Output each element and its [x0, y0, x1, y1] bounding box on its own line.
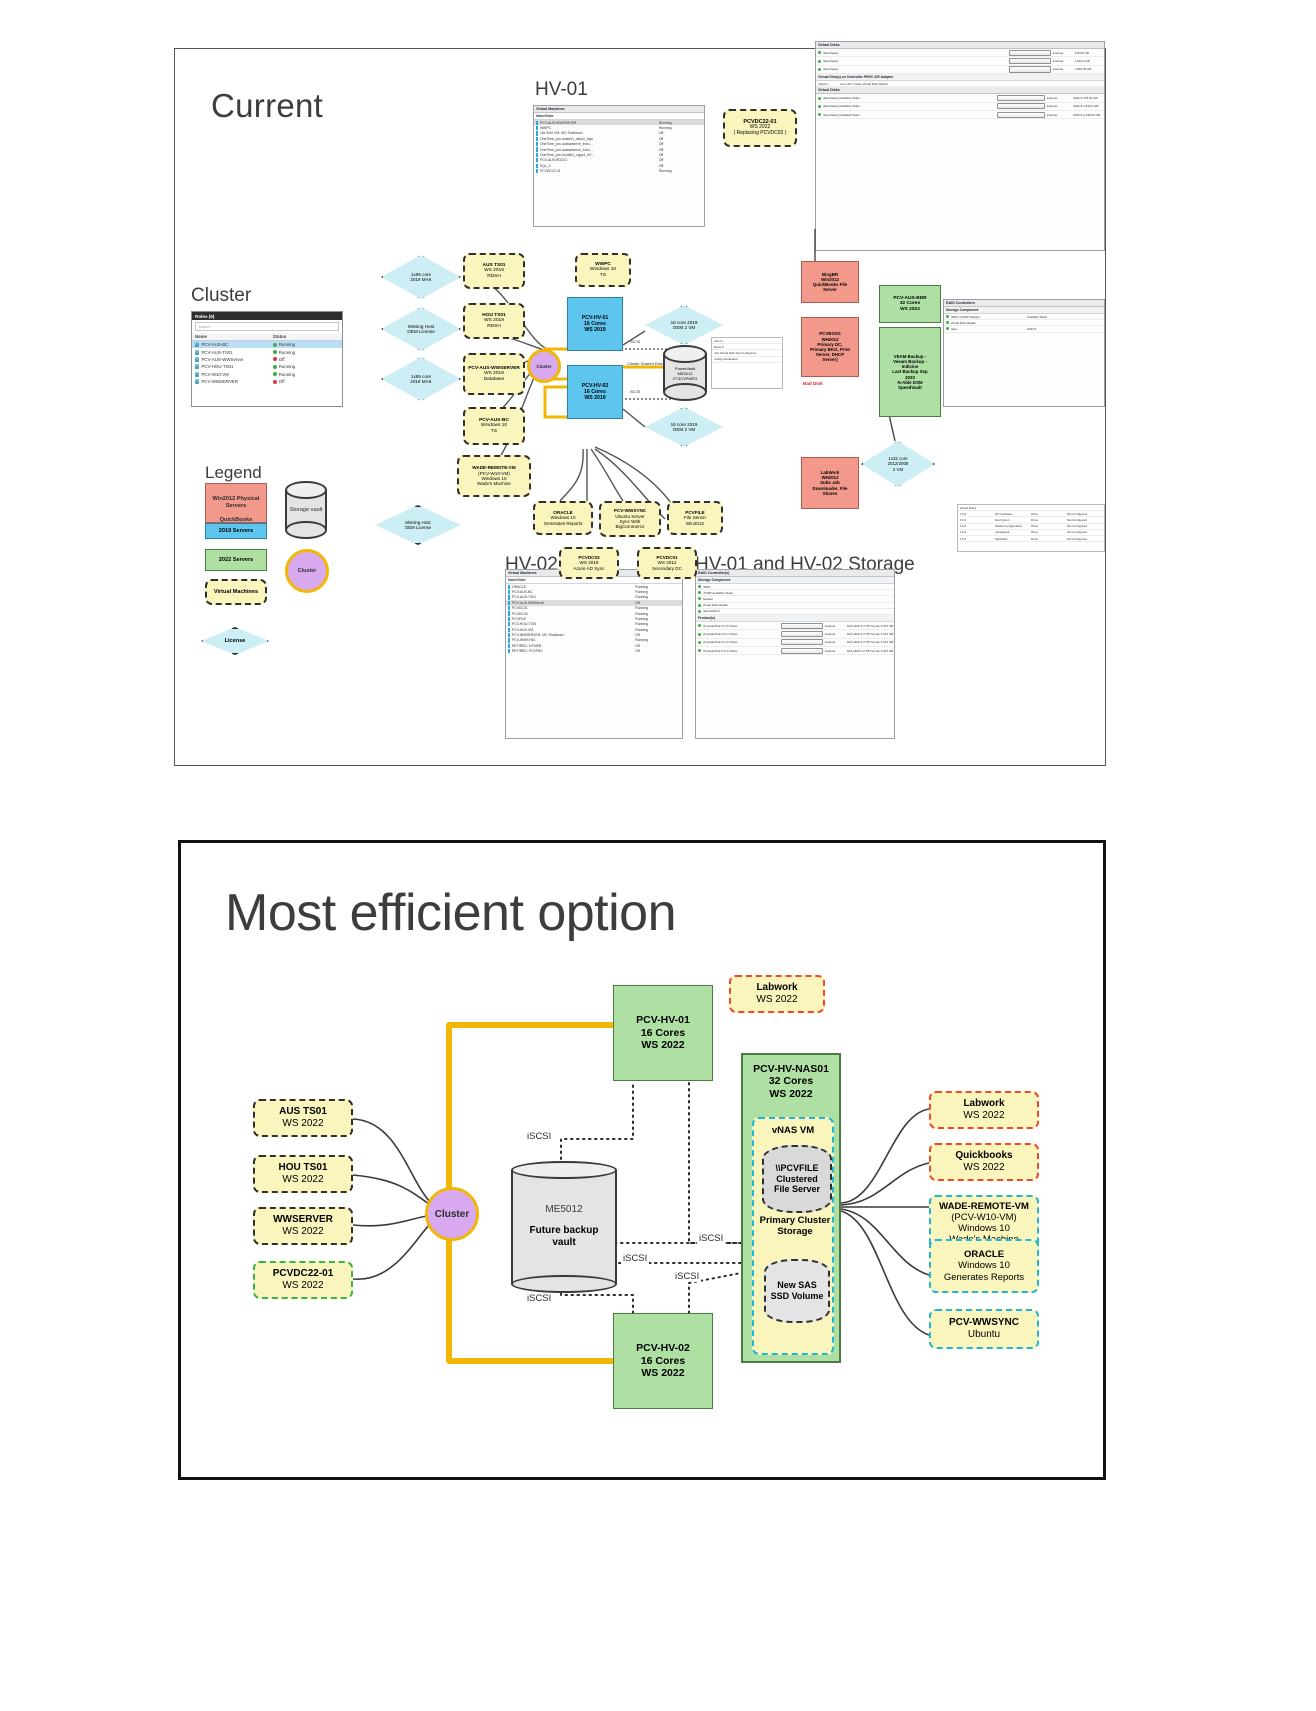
file-server-name: \\PCVFILE	[775, 1163, 818, 1174]
cell-status: Off	[273, 379, 339, 384]
host-line-1: 16 Cores	[641, 1355, 685, 1367]
host-title: PCV-HV-01	[636, 1014, 690, 1026]
cell-state: Off	[659, 131, 702, 135]
vm-wwpc: WWPCWindows 10TS	[575, 253, 631, 287]
vm-line-2: Windows 10	[958, 1223, 1010, 1234]
label-iscsi-4: iSCSI	[673, 1271, 701, 1282]
cell-name: PCV-HOU-TS01	[202, 364, 273, 369]
section-title: Virtual Disk(s) on Controller PERC S/E A…	[816, 74, 1104, 81]
nas-title: PCV-HV-NAS01	[753, 1063, 829, 1075]
bdr-pcv-aus-bdr: PCV-AUS-BDR32 CoresWS 2022	[879, 285, 941, 323]
storage-powervault: PowerVault ME5012 2T.3CVPMFG	[663, 345, 707, 401]
cell-name: OneTime_pcv-houts01_cqpv4_m7...	[540, 153, 659, 157]
table-row[interactable]: RETIRED- NTWEBOff	[506, 643, 682, 648]
virtual-disk-row[interactable]: Data Ready Available TasksExecuteRAID-5 …	[816, 94, 1104, 102]
options-label: Options:	[818, 82, 840, 86]
product-row[interactable]: Physical Disk 0:1:2 OnlineExecuteSAS HDD…	[696, 639, 894, 647]
cell-name: OneTime_pcv-austs01_dbcv2_logs	[540, 137, 659, 141]
hv-storage-lines: PERCH730P Available TasksAdapterVirtual …	[696, 584, 894, 615]
vm-aus-ts01: AUS TS01WS 2019RDSH	[463, 253, 525, 289]
cell-state: Off	[659, 148, 702, 152]
cell-status: Running	[273, 372, 339, 377]
vm-pcv-wwsync: PCV-WWSYNCUbuntu	[929, 1309, 1039, 1349]
sub-panel-title: Virtual Disks	[816, 87, 1104, 94]
table-row[interactable]: ORACLERunning	[506, 584, 682, 589]
product-row[interactable]: Physical Disk 0:1:3 OnlineExecuteSAS HDD…	[696, 647, 894, 655]
roles-title: Roles (6)	[192, 312, 342, 320]
vm-title: WADE-REMOTE-VM	[939, 1201, 1029, 1212]
license-line2: OEM License	[405, 525, 431, 530]
cell-name: PCV-W10-VM	[512, 628, 635, 632]
cluster-roles-panel[interactable]: Roles (6) Search Name Status PCV-AUS-BCR…	[191, 311, 343, 407]
column-name: Name	[195, 334, 273, 339]
legend-label: License	[225, 638, 246, 645]
cell-name: PCV-AUS-WWServer	[512, 601, 635, 605]
host-line-1: 16 Cores	[641, 1027, 685, 1039]
role-row[interactable]: PCV-AUS-TS01Running	[192, 348, 342, 355]
license-7: 1x32 core 2012/2008 2 VM	[861, 441, 935, 487]
table-row[interactable]: RETIRED- PCVFBXOff	[506, 649, 682, 654]
bdr-line-2: WS 2022	[900, 307, 920, 313]
detail-row: 0:0:4RackdiskDriveNot Configured	[958, 536, 1104, 542]
vm-status-icon	[536, 164, 538, 168]
vm-title: WWSERVER	[273, 1214, 333, 1226]
cell-name: Old W10 VM- MC Shutdown	[540, 131, 659, 135]
legend-cluster: Cluster	[285, 549, 329, 593]
table-row[interactable]: PCV-AUS-TS01Running	[506, 595, 682, 600]
hv-storage-panel[interactable]: RAID Controller(s) Storage Component PER…	[695, 569, 895, 739]
vm-status-icon	[536, 147, 538, 151]
table-row[interactable]: Old W10 VM- MC ShutdownOff	[534, 131, 704, 136]
vm-wade-remote-vm: WADE-REMOTE-VM(PCV-W10-VM)Windows 10Wade…	[457, 455, 531, 497]
cluster-node: Cluster	[527, 349, 561, 383]
cell-name: PCV-AUS-RDC01	[540, 158, 659, 162]
vm-status-icon	[536, 153, 538, 157]
host-line-2: WS 2019	[584, 395, 605, 401]
cell-name: PCV-HOU-TS01	[512, 622, 635, 626]
virtual-disk-row[interactable]: Data ReadyExecute2,048.00 GB	[816, 66, 1104, 74]
physical-labwork: LabWorkWH2012Subs JobDownloader, FileSha…	[801, 457, 859, 509]
cell-name: WWPC	[540, 126, 659, 130]
vm-line-2: Win2012	[686, 521, 704, 526]
vm-hou-ts01: HOU TS01WS 2019RDSH	[463, 303, 525, 339]
vm-rows: ORACLERunningPCV-AUS-BCRunningPCV-AUS-TS…	[506, 584, 682, 654]
heading-cluster: Cluster	[191, 285, 251, 307]
panel-header: Name State	[534, 113, 704, 120]
cell-name: PCV-WWSYNC	[512, 638, 635, 642]
cell-name: PCV-AUS-WWServer	[202, 357, 273, 362]
license-line2: 2019 MAK	[410, 277, 431, 282]
vm-title: Labwork	[963, 1098, 1004, 1110]
table-row[interactable]: PCVDC22-01Running	[534, 168, 704, 173]
primary-line1: Primary Cluster	[756, 1215, 834, 1226]
physical-line-3: Server	[823, 287, 837, 292]
storage-label: PowerVault ME5012 2T.3CVPMFG	[663, 345, 707, 401]
vm-pcvdc22-01: PCVDC22-01WS 2022	[253, 1261, 353, 1299]
heading-hv01: HV-01	[535, 79, 588, 101]
vm-status-icon	[536, 142, 538, 146]
host-line-2: WS 2022	[641, 1367, 684, 1379]
table-row[interactable]: PCV-HOU-TS01Running	[506, 622, 682, 627]
license-3: 1x95 core 2019 MAK	[381, 357, 461, 401]
product-row[interactable]: Physical Disk 0:1:1 OnlineExecuteSAS HDD…	[696, 630, 894, 638]
cell-name: PCV-AUS-BC	[202, 342, 273, 347]
vm-status-icon	[508, 638, 510, 642]
vm-title: ORACLE	[964, 1249, 1004, 1260]
column-state: State	[517, 578, 525, 582]
volume-line1: New SAS	[777, 1280, 817, 1291]
vm-status-icon	[536, 126, 538, 130]
cell-name: PCV-WWSERVER- MC Shutdown	[512, 633, 635, 637]
vm-pcvdc03: PCVDC03WS 2019Azure AD Sync	[559, 547, 619, 579]
cell-name: OneTime_pcv-auswwserve_from-...	[540, 148, 659, 152]
vm-status-icon	[508, 585, 510, 589]
vm-status-icon	[536, 158, 538, 162]
table-row[interactable]: PCV-AUS-WWServerOff	[506, 600, 682, 605]
cell-state: Off	[659, 153, 702, 157]
role-row[interactable]: PCV-W10-VMRunning	[192, 371, 342, 378]
slide-most-efficient: Most efficient option	[178, 840, 1106, 1480]
legend-label: Storage vault	[285, 481, 327, 539]
vm-line-3: Wade's Machine	[477, 481, 511, 486]
future-backup-vault: ME5012 Future backup vault	[511, 1161, 617, 1293]
virtual-disk-row[interactable]: Data ReadyExecute279.00 GB	[816, 49, 1104, 57]
roles-rows: PCV-AUS-BCRunningPCV-AUS-TS01RunningPCV-…	[192, 341, 342, 385]
cell-name: PCVDC22-01	[540, 169, 659, 173]
detail-rows: 0:0:0DC SoftwareDriveNot Configured0:0:1…	[958, 511, 1104, 542]
host-title: PCV-HV-02	[636, 1342, 690, 1354]
vm-title: AUS TS01	[279, 1106, 327, 1118]
host-pcv-hv-nas01: PCV-HV-NAS01 32 Cores WS 2022 vNAS VM \\…	[741, 1053, 841, 1363]
bdr-row[interactable]: DataRAID-5	[944, 326, 1104, 332]
physical-pcvboss: PCVBOSSWH2012Primary DC,Primary BKG, Pri…	[801, 317, 859, 377]
cell-state: Off	[659, 164, 702, 168]
vm-oracle: ORACLEWindows 10Generates Reports	[929, 1239, 1039, 1293]
vm-title: HOU TS01	[279, 1162, 328, 1174]
vm-pcv-wwsync: PCV-WWSYNCUbuntu ServerSync WithBigComme…	[599, 501, 661, 537]
role-icon	[195, 364, 199, 369]
roles-search-input[interactable]: Search	[195, 322, 339, 331]
cell-state: Off	[659, 142, 702, 146]
license-line3: 2 VM	[893, 467, 903, 472]
cell-name: PCV-WWSERVER	[202, 379, 273, 384]
table-row[interactable]: SQL_3Off	[534, 163, 704, 168]
new-sas-ssd-volume: New SAS SSD Volume	[764, 1259, 830, 1323]
table-row[interactable]: PCV-W10-VMRunning	[506, 627, 682, 632]
cell-status: Off	[273, 357, 339, 362]
vm-line-1: WS 2022	[282, 1174, 323, 1186]
legend-label: 2019 Servers	[219, 528, 254, 535]
vnas-vm: vNAS VM \\PCVFILE Clustered File Server …	[752, 1117, 834, 1355]
section-label: Storage Component	[696, 577, 894, 584]
table-row[interactable]: PCV-AUS-BCRunning	[506, 589, 682, 594]
legend-virtual-machines: Virtual Machines	[205, 579, 267, 605]
vm-wwpc-line-2: TS	[600, 273, 606, 279]
vm-line-1: WS 2022	[963, 1110, 1004, 1122]
nas-cores: 32 Cores	[769, 1075, 813, 1087]
bdr-storage-panel[interactable]: RAID Controllers Storage Component PERC …	[943, 299, 1105, 407]
label-iscsi-5: iSCSI	[525, 1293, 553, 1304]
vault-label: ME5012 Future backup vault	[511, 1161, 617, 1293]
physical-line-5: Server]	[822, 357, 837, 362]
table-row[interactable]: WWPCRunning	[534, 125, 704, 130]
vm-status-icon	[508, 611, 510, 615]
cell-state: Running	[635, 638, 680, 642]
vm-line-2: Secondary DC	[652, 566, 682, 571]
vm-labwork: LabworkWS 2022	[929, 1091, 1039, 1129]
cluster-node: Cluster	[425, 1187, 479, 1241]
virtual-disks-panel[interactable]: Virtual Disks Data ReadyExecute279.00 GB…	[815, 41, 1105, 251]
vm-status-icon	[536, 137, 538, 141]
vm-labwork-top: LabworkWS 2022	[729, 975, 825, 1013]
host-pcv-hv-02: PCV-HV-0216 CoresWS 2019	[567, 365, 623, 419]
license-line2: OEM License	[407, 329, 435, 334]
cell-status: Running	[273, 350, 339, 355]
vm-status-icon	[536, 131, 538, 135]
vm-status-icon	[508, 622, 510, 626]
legend-label: Win2012 Physical Servers	[206, 496, 266, 509]
vm-line-1: WS 2022	[282, 1226, 323, 1238]
role-row[interactable]: PCV-HOU-TS01Running	[192, 363, 342, 370]
panel-title: RAID Controllers	[944, 300, 1104, 307]
storage-line2: 2T.3CVPMFG	[673, 376, 698, 381]
vm-line-1: WS 2022	[282, 1280, 323, 1292]
vm-labwork-line-1: WS 2022	[756, 994, 797, 1006]
vm-line-2: Generates Reports	[544, 521, 583, 526]
vnas-title: vNAS VM	[772, 1125, 814, 1136]
label-bad-disk: Bad Disk	[803, 381, 823, 386]
license-2: Missing Host OEM License	[381, 307, 461, 351]
vm-labwork-title: Labwork	[756, 982, 797, 994]
vm-line-2: Azure AD Sync	[574, 566, 605, 571]
table-row[interactable]: OneTime_pcv-austs01_dbcv2_logsOff	[534, 136, 704, 141]
vm-status-icon	[508, 601, 510, 605]
cell-name: PCVDC01	[512, 606, 635, 610]
cell-state: Off	[635, 649, 680, 653]
license-1: 1x95 core 2019 MAK	[381, 255, 461, 299]
vm-line-2: TS	[491, 429, 497, 435]
virtual-disk-row[interactable]: Data Ready Available TasksExecuteRAID-6 …	[816, 103, 1104, 111]
legend-storage-vault: Storage vault	[285, 481, 327, 539]
role-row[interactable]: PCV-WWSERVEROff	[192, 378, 342, 385]
vm-title: Quickbooks	[955, 1150, 1012, 1162]
section-label: Storage Component	[944, 307, 1104, 314]
virtual-disk-rows-top: Data ReadyExecute279.00 GBData ReadyExec…	[816, 49, 1104, 74]
license-line2: OEM 2 VM	[673, 427, 695, 432]
column-status: Status	[273, 334, 339, 339]
vm-status-icon	[508, 617, 510, 621]
table-row[interactable]: PCVFILERunning	[506, 616, 682, 621]
vm-status-icon	[508, 649, 510, 653]
hv01-vm-panel[interactable]: Virtual Machines Name State PCV-AUS-WWSE…	[533, 105, 705, 227]
cell-state: Running	[635, 617, 680, 621]
cell-name: PCV-W10-VM	[202, 372, 273, 377]
host-pcv-hv-01: PCV-HV-0116 CoresWS 2019	[567, 297, 623, 351]
vm-pcv-aus-bc: PCV-AUS-BCWindows 10TS	[463, 407, 525, 445]
cell-state: Running	[659, 169, 702, 173]
host-pcv-hv-02: PCV-HV-0216 CoresWS 2022	[613, 1313, 713, 1409]
label-iscsi-3: iSCSI	[621, 1253, 649, 1264]
legend-license: License	[201, 627, 269, 655]
legend-label: 2022 Servers	[219, 557, 254, 564]
table-row[interactable]: OneTime_pcv-auswwserve_from-...Off	[534, 147, 704, 152]
table-row[interactable]: PCV-WWSERVER- MC ShutdownOff	[506, 632, 682, 637]
cell-state: Off	[635, 633, 680, 637]
bdr-veeam-backup: VEAM Backup -Veeam Backup -IndicineLast …	[879, 327, 941, 417]
cell-name: PCV-AUS-WWSERVER	[540, 121, 659, 125]
role-icon	[195, 350, 199, 355]
vm-status-icon	[508, 606, 510, 610]
vm-oracle: ORACLEWindows 10Generates Reports	[533, 501, 593, 535]
vm-line-2: RDSH	[487, 274, 501, 280]
storage-detail-panel[interactable]: Virtual Disks 0:0:0DC SoftwareDriveNot C…	[957, 504, 1105, 552]
cell-state: Running	[635, 606, 680, 610]
roles-header: Name Status	[192, 333, 342, 341]
vault-line2: vault	[552, 1237, 575, 1250]
cell-name: PCVDC03	[512, 612, 635, 616]
volume-line2: SSD Volume	[771, 1291, 824, 1302]
cell-name: RETIRED- PCVFBX	[512, 649, 635, 653]
vm-pcvdc01: PCVDC01WS 2012Secondary DC	[637, 547, 697, 579]
vm-line-2: Database	[484, 377, 505, 383]
label-iscsi-2: iSCSI	[697, 1233, 725, 1244]
table-row[interactable]: PCV-AUS-RDC01Off	[534, 158, 704, 163]
cell-name: ORACLE	[512, 585, 635, 589]
vm-rows: PCV-AUS-WWSERVERRunningWWPCRunningOld W1…	[534, 120, 704, 174]
nas-os: WS 2022	[769, 1088, 812, 1100]
column-name: Name	[508, 578, 517, 582]
legend-2022-servers: 2022 Servers	[205, 549, 267, 571]
vm-line-2: RDSH	[487, 324, 501, 330]
cell-state: Off	[659, 158, 702, 162]
cell-state: Off	[635, 601, 680, 605]
heading-legend: Legend	[205, 463, 262, 483]
cell-name: PCV-AUS-TS01	[202, 350, 273, 355]
options-value[interactable]: Go to the Create Virtual Disk Wizard	[840, 82, 1103, 86]
cell-name: PCV-AUS-BC	[512, 590, 635, 594]
table-row[interactable]: PCV-WWSYNCRunning	[506, 638, 682, 643]
column-name: Name	[536, 114, 545, 118]
license-6: Missing Host OEM License	[375, 505, 461, 545]
product-row[interactable]: Physical Disk 0:1:0 OnlineExecuteSAS HDD…	[696, 622, 894, 630]
table-row[interactable]: PCV-AUS-WWSERVERRunning	[534, 120, 704, 125]
role-row[interactable]: PCV-AUS-BCRunning	[192, 341, 342, 348]
primary-cluster-storage: Primary Cluster Storage	[756, 1215, 834, 1237]
cell-status: Running	[273, 364, 339, 369]
vm-pcv-aus-wwserver: PCV-AUS-WWSERVERWS 2019Database	[463, 353, 525, 395]
products-label: Product(s)	[696, 615, 894, 622]
virtual-disk-row[interactable]: Data Ready Available TasksExecuteRAID-6 …	[816, 111, 1104, 119]
file-server-line2: File Server	[774, 1184, 820, 1195]
cell-status: Running	[273, 342, 339, 347]
vm-hou-ts01: HOU TS01WS 2022	[253, 1155, 353, 1193]
role-row[interactable]: PCV-AUS-WWServerOff	[192, 356, 342, 363]
cell-state: Running	[635, 622, 680, 626]
cell-state: Running	[635, 612, 680, 616]
vm-status-icon	[536, 121, 538, 125]
label-cluster-shared-disk: Cluster Shared Disk	[627, 361, 663, 366]
note-pcvdc22-01: PCVDC22-01WS 2022( Replacing PCVDC02 )	[723, 109, 797, 147]
file-server-line1: Clustered	[776, 1174, 818, 1185]
role-icon	[195, 379, 199, 384]
table-row[interactable]: OneTime_pcv-houts01_cqpv4_m7...Off	[534, 152, 704, 157]
vm-line-1: WS 2022	[963, 1162, 1004, 1174]
panel-title: Virtual Disks	[816, 42, 1104, 49]
legend-label: Virtual Machines	[214, 589, 258, 596]
cell-name: RETIRED- NTWEB	[512, 644, 635, 648]
role-icon	[195, 372, 199, 377]
host-line-2: WS 2022	[641, 1039, 684, 1051]
popup-row-3: Assign Dedicated	[712, 357, 782, 363]
cell-state: Running	[659, 121, 702, 125]
physical-line-4: Shares	[823, 491, 838, 496]
license-line2: OEM 2 VM	[673, 325, 695, 330]
virtual-disk-rows: Data Ready Available TasksExecuteRAID-5 …	[816, 94, 1104, 119]
hv-storage-rows: Physical Disk 0:1:0 OnlineExecuteSAS HDD…	[696, 622, 894, 656]
physical-bingbr: BingBRWin2012QuickBooks FileServer	[801, 261, 859, 303]
vm-line-1: (PCV-W10-VM)	[951, 1212, 1016, 1223]
vm-line-2: Generates Reports	[944, 1272, 1024, 1283]
hv02-vm-panel[interactable]: Virtual Machines Name State ORACLERunnin…	[505, 569, 683, 739]
vm-status-icon	[508, 644, 510, 648]
label-iscsi-2: iSCSI	[630, 389, 640, 394]
host-line-2: WS 2019	[584, 327, 605, 333]
primary-line2: Storage	[756, 1226, 834, 1237]
cell-state: Running	[635, 585, 680, 589]
label-iscsi-1: iSCSI	[630, 339, 640, 344]
label-iscsi-1: iSCSI	[525, 1131, 553, 1142]
cell-state: Running	[635, 628, 680, 632]
slide-current: Current HV-01 BDR Storage Cluster Legend…	[174, 48, 1106, 766]
cell-state: Running	[635, 590, 680, 594]
cell-state: Running	[659, 126, 702, 130]
vm-status-icon	[508, 628, 510, 632]
vm-aus-ts01: AUS TS01WS 2022	[253, 1099, 353, 1137]
page-title: Current	[211, 87, 323, 125]
clustered-file-server: \\PCVFILE Clustered File Server	[762, 1145, 832, 1213]
license-line2: 2019 MAK	[410, 379, 431, 384]
vm-pcvfile: PCVFILEFile ServerWin2012	[667, 501, 723, 535]
vm-line-1: WS 2022	[282, 1118, 323, 1130]
cell-name: OneTime_pcv-auswwserve_from-...	[540, 142, 659, 146]
veeam-line-7: SpeedVault	[898, 385, 922, 390]
vm-line-1: Ubuntu	[968, 1329, 1000, 1341]
cell-state: Running	[635, 595, 680, 599]
bdr-rows: PERC H730P AdapterAvailable TasksVirtual…	[944, 314, 1104, 333]
legend-2019-servers: 2019 Servers	[205, 523, 267, 539]
cell-name: SQL_3	[540, 164, 659, 168]
vm-title: PCVDC22-01	[273, 1268, 334, 1280]
table-row[interactable]: PCVDC03Running	[506, 611, 682, 616]
storage-popup-panel[interactable]: New In- Steps in Set Virtual Disk Not Co…	[711, 337, 783, 389]
table-row[interactable]: OneTime_pcv-auswwserve_from-...Off	[534, 142, 704, 147]
role-icon	[195, 357, 199, 362]
vm-status-icon	[508, 633, 510, 637]
virtual-disk-row[interactable]: Data ReadyExecute1,819.0 GB	[816, 57, 1104, 65]
license-5: 16 core 2019 OEM 2 VM	[645, 407, 723, 447]
cell-name: PCV-AUS-TS01	[512, 595, 635, 599]
cell-state: Off	[635, 644, 680, 648]
vault-line1: Future backup	[530, 1225, 599, 1238]
panel-title: RAID Controller(s)	[696, 570, 894, 577]
vault-model: ME5012	[545, 1204, 582, 1217]
vm-line-1: Windows 10	[958, 1260, 1010, 1271]
vm-status-icon	[508, 590, 510, 594]
vm-line-3: BigCommerce	[615, 524, 644, 529]
page-title: Most efficient option	[225, 883, 676, 943]
table-row[interactable]: PCVDC01Running	[506, 606, 682, 611]
cell-name: PCVFILE	[512, 617, 635, 621]
